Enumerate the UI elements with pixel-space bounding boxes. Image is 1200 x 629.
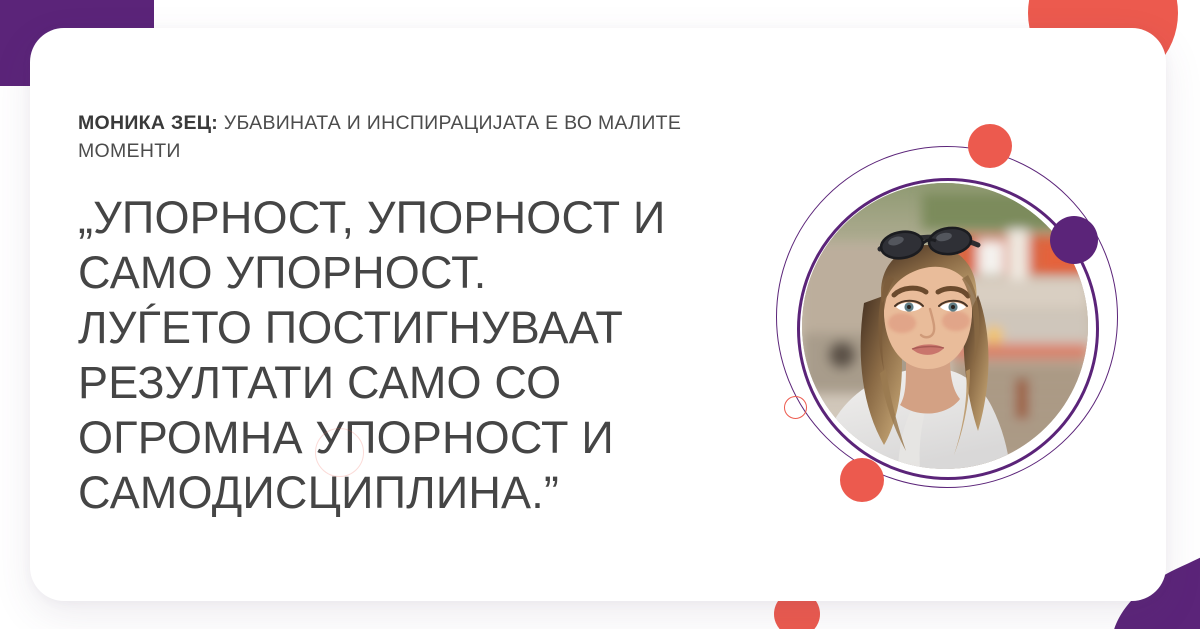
portrait-cluster bbox=[740, 128, 1130, 518]
dot-coral-bottom-left-icon bbox=[840, 458, 884, 502]
article-eyebrow: МОНИКА ЗЕЦ: УБАВИНАТА И ИНСПИРАЦИЈАТА Е … bbox=[78, 110, 738, 165]
ring-coral-small-left-icon bbox=[784, 396, 807, 419]
pull-quote: „УПОРНОСТ, УПОРНОСТ И САМО УПОРНОСТ. ЛУЃ… bbox=[78, 191, 738, 520]
text-column: МОНИКА ЗЕЦ: УБАВИНАТА И ИНСПИРАЦИЈАТА Е … bbox=[78, 110, 738, 521]
dot-purple-right-icon bbox=[1050, 216, 1098, 264]
quote-card: МОНИКА ЗЕЦ: УБАВИНАТА И ИНСПИРАЦИЈАТА Е … bbox=[30, 28, 1166, 601]
slide-canvas: МОНИКА ЗЕЦ: УБАВИНАТА И ИНСПИРАЦИЈАТА Е … bbox=[0, 0, 1200, 629]
avatar bbox=[802, 183, 1088, 469]
dot-coral-top-right-icon bbox=[968, 124, 1012, 168]
person-name: МОНИКА ЗЕЦ: bbox=[78, 112, 218, 134]
